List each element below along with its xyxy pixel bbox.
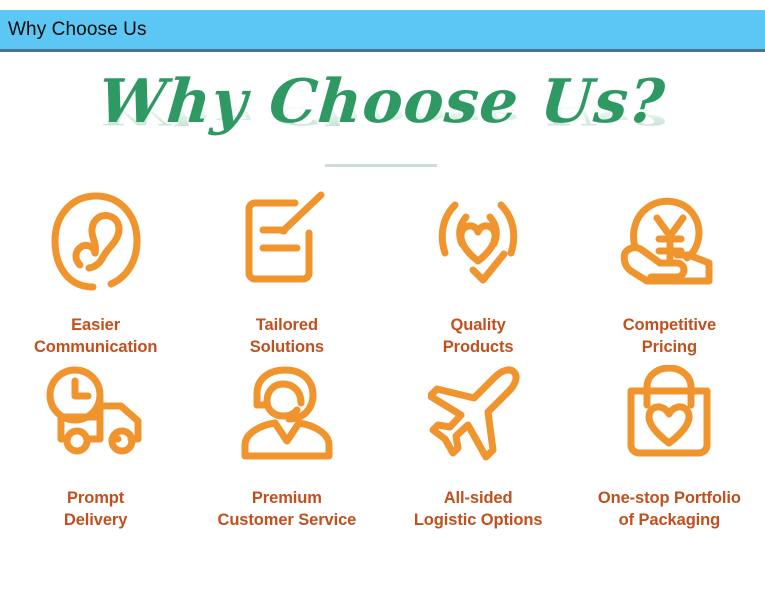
- page-title: Why Choose Us?: [0, 58, 765, 132]
- delivery-truck-clock-icon: [43, 359, 149, 467]
- feature-item-competitive-pricing[interactable]: Competitive Pricing: [574, 186, 765, 359]
- feature-label: Prompt Delivery: [62, 487, 129, 532]
- feature-label: Competitive Pricing: [621, 314, 718, 359]
- feature-label: Premium Customer Service: [216, 487, 359, 532]
- feature-label: Tailored Solutions: [248, 314, 326, 359]
- feature-label: One-stop Portfolio of Packaging: [596, 487, 743, 532]
- hand-holding-yen-coin-icon: [617, 186, 721, 296]
- feature-label: All-sided Logistic Options: [412, 487, 545, 532]
- headset-person-icon: [235, 359, 339, 467]
- feature-item-tailored-solutions[interactable]: Tailored Solutions: [191, 186, 382, 359]
- feature-item-all-sided-logistic-options[interactable]: All-sided Logistic Options: [383, 359, 574, 532]
- feature-item-quality-products[interactable]: Quality Products: [383, 186, 574, 359]
- feature-item-one-stop-portfolio-of-packaging[interactable]: One-stop Portfolio of Packaging: [574, 359, 765, 532]
- shopping-bag-heart-icon: [619, 359, 719, 467]
- hero-divider: [325, 164, 437, 167]
- document-pencil-icon: [237, 186, 337, 296]
- feature-label: Easier Communication: [32, 314, 159, 359]
- window-title: Why Choose Us: [0, 19, 147, 41]
- window-titlebar: Why Choose Us: [0, 10, 765, 52]
- feature-item-easier-communication[interactable]: Easier Communication: [0, 186, 191, 359]
- feature-item-prompt-delivery[interactable]: Prompt Delivery: [0, 359, 191, 532]
- feature-label: Quality Products: [441, 314, 516, 359]
- hero-section: Why Choose Us? Why Choose Us?: [0, 58, 765, 173]
- airplane-icon: [428, 359, 528, 467]
- features-grid: Easier Communication Tailored Solutions: [0, 186, 765, 531]
- ear-in-circle-icon: [47, 186, 145, 296]
- heart-waves-check-icon: [425, 186, 531, 296]
- feature-item-premium-customer-service[interactable]: Premium Customer Service: [191, 359, 382, 532]
